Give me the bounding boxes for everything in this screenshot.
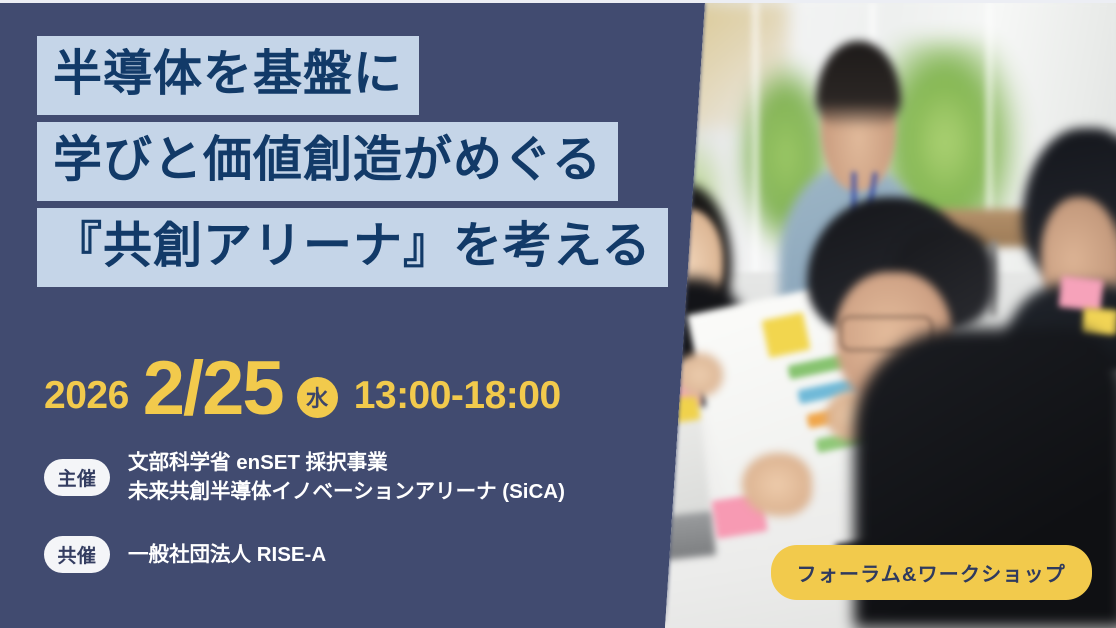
top-edge-strip bbox=[0, 0, 1116, 3]
event-month-day: 2/25 bbox=[143, 356, 283, 421]
organizer-name-cohost: 一般社団法人 RISE-A bbox=[128, 540, 326, 569]
organizer-name-host: 文部科学省 enSET 採択事業 未来共創半導体イノベーションアリーナ (SiC… bbox=[128, 448, 565, 506]
event-title: 半導体を基盤に 学びと価値創造がめぐる 『共創アリーナ』を考える bbox=[37, 36, 668, 294]
day-of-week-badge: 水 bbox=[297, 377, 338, 418]
photo-hand bbox=[742, 453, 812, 516]
event-year: 2026 bbox=[44, 374, 129, 418]
organizer-row-cohost: 共催 一般社団法人 RISE-A bbox=[44, 536, 326, 573]
title-line-2: 学びと価値創造がめぐる bbox=[37, 122, 618, 201]
organizer-host-line-1: 文部科学省 enSET 採択事業 bbox=[128, 451, 388, 474]
photo-window-mullion bbox=[751, 3, 760, 291]
event-banner: 半導体を基盤に 学びと価値創造がめぐる 『共創アリーナ』を考える 2026 2/… bbox=[0, 0, 1116, 628]
organizer-row-host: 主催 文部科学省 enSET 採択事業 未来共創半導体イノベーションアリーナ (… bbox=[44, 448, 565, 506]
title-line-1: 半導体を基盤に bbox=[37, 36, 419, 115]
event-time: 13:00-18:00 bbox=[354, 374, 561, 418]
event-datetime: 2026 2/25 水 13:00-18:00 bbox=[44, 350, 561, 420]
workshop-photo-scene bbox=[648, 3, 1116, 628]
organizer-cohost-line-1: 一般社団法人 RISE-A bbox=[128, 543, 326, 566]
hero-photo bbox=[648, 3, 1116, 628]
category-badge: フォーラム&ワークショップ bbox=[771, 545, 1092, 600]
photo-sticky-note bbox=[762, 312, 811, 357]
organizer-host-line-2: 未来共創半導体イノベーションアリーナ (SiCA) bbox=[128, 480, 565, 503]
photo-sticky-note bbox=[1082, 308, 1116, 335]
photo-sticky-note bbox=[1058, 276, 1103, 311]
title-line-3: 『共創アリーナ』を考える bbox=[37, 208, 668, 287]
content-panel: 半導体を基盤に 学びと価値創造がめぐる 『共創アリーナ』を考える 2026 2/… bbox=[0, 0, 690, 628]
organizer-pill-host: 主催 bbox=[44, 459, 110, 496]
organizer-pill-cohost: 共催 bbox=[44, 536, 110, 573]
